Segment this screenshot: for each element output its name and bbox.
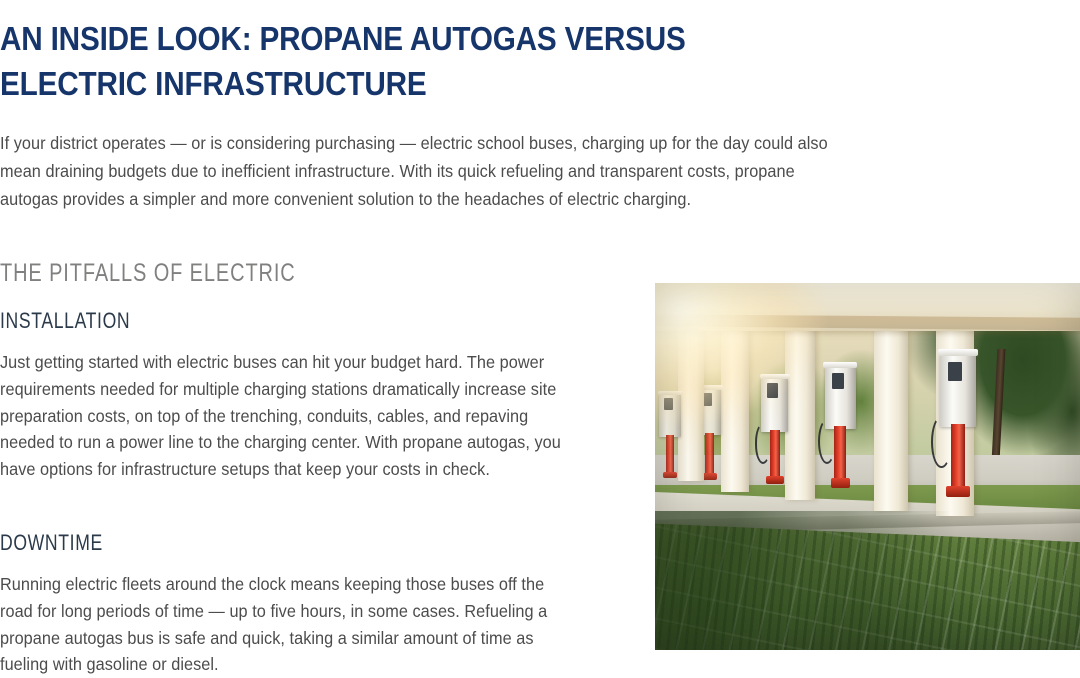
charger-cap bbox=[658, 391, 683, 395]
charger-screen bbox=[703, 393, 713, 405]
charger-bollard bbox=[951, 424, 965, 490]
photo-canopy-column-2 bbox=[721, 312, 749, 492]
article-page: AN INSIDE LOOK: PROPANE AUTOGAS VERSUS E… bbox=[0, 0, 1080, 675]
photo-paver-shadows bbox=[655, 511, 1080, 650]
photo-charging-station-4 bbox=[825, 366, 856, 487]
charger-bollard bbox=[770, 430, 780, 479]
charger-bollard bbox=[705, 433, 714, 475]
photo-charging-station-1 bbox=[659, 393, 681, 477]
charger-cap bbox=[760, 374, 790, 379]
charger-bollard bbox=[834, 426, 846, 482]
charger-head bbox=[659, 393, 681, 437]
charger-screen bbox=[832, 373, 844, 389]
body-paragraph-installation: Just getting started with electric buses… bbox=[0, 335, 563, 483]
charger-cap bbox=[823, 362, 857, 368]
charger-cable bbox=[755, 423, 772, 463]
ev-charging-stations-photo bbox=[655, 283, 1080, 650]
photo-canopy-column-3 bbox=[785, 305, 816, 500]
charger-cap bbox=[938, 349, 979, 356]
section-heading-pitfalls-of-electric: THE PITFALLS OF ELECTRIC bbox=[0, 213, 736, 289]
charger-cable bbox=[931, 416, 952, 469]
charger-screen bbox=[948, 362, 963, 381]
photo-canopy-column-1 bbox=[678, 320, 704, 481]
page-title: AN INSIDE LOOK: PROPANE AUTOGAS VERSUS E… bbox=[0, 0, 801, 106]
sub-heading-installation: INSTALLATION bbox=[0, 289, 736, 335]
charger-base bbox=[702, 473, 717, 480]
body-paragraph-downtime: Running electric fleets around the clock… bbox=[0, 557, 563, 678]
charger-bollard bbox=[666, 435, 674, 474]
charger-base bbox=[831, 478, 851, 488]
photo-charging-station-5 bbox=[940, 353, 977, 496]
charger-screen bbox=[664, 398, 673, 409]
charger-base bbox=[663, 472, 677, 479]
photo-charging-station-3 bbox=[761, 377, 788, 483]
charger-base bbox=[766, 476, 783, 485]
article-intro-paragraph: If your district operates — or is consid… bbox=[0, 106, 856, 213]
sub-heading-downtime: DOWNTIME bbox=[0, 483, 736, 557]
charger-screen bbox=[767, 383, 778, 397]
charger-cable bbox=[818, 419, 836, 464]
charger-base bbox=[946, 486, 969, 497]
